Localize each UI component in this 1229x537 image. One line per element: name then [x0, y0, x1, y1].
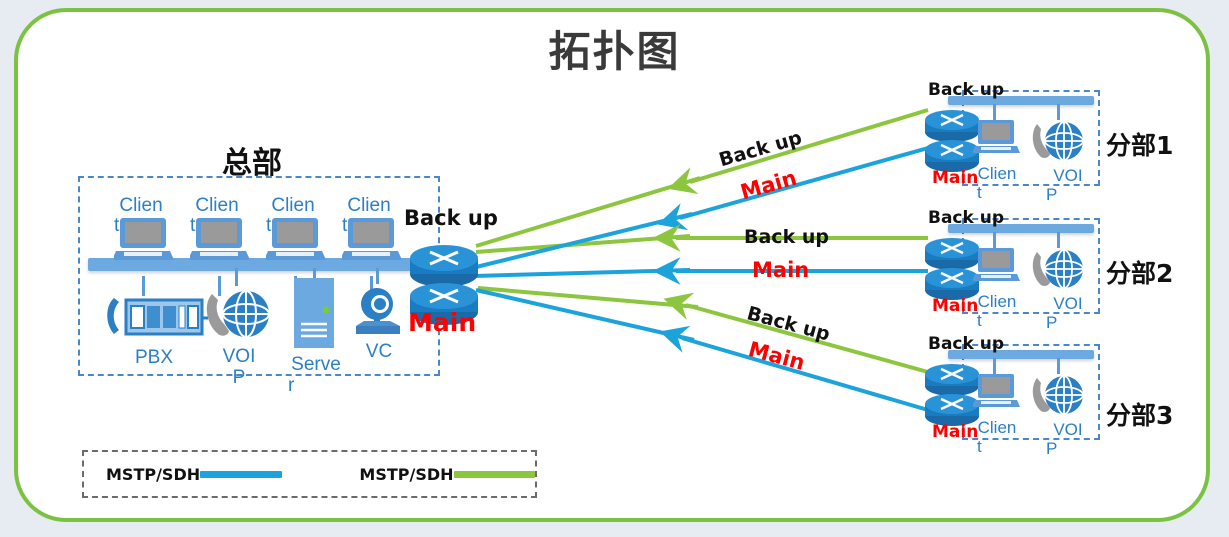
branch2-client[interactable]: Clien t — [973, 246, 1021, 330]
branch1-voip-label2: P — [1046, 185, 1057, 204]
hq-client-3-label2: t — [266, 215, 271, 236]
hq-voip[interactable]: VOI P — [204, 284, 274, 388]
branch3-voip-label: VOI — [1053, 420, 1082, 439]
branch1-voip[interactable]: VOI P — [1030, 116, 1096, 204]
legend-item-0-label: MSTP/SDH — [106, 465, 200, 484]
hq-server-label: Serve — [291, 354, 341, 375]
laptop-icon — [973, 372, 1021, 418]
laptop-icon — [973, 246, 1021, 292]
voip-globe-icon — [204, 284, 274, 346]
branch1-router-main-label: Main — [932, 168, 978, 188]
hq-client-1-label: Clien — [119, 195, 162, 216]
webcam-icon — [350, 282, 408, 342]
hq-voip-label2: P — [233, 367, 246, 388]
link-label-branch2-backup: Back up — [744, 226, 829, 248]
laptop-icon — [973, 118, 1021, 164]
server-icon — [288, 276, 340, 352]
hq-router-backup-label: Back up — [404, 206, 498, 230]
hq-pbx-label: PBX — [135, 347, 173, 368]
hq-vc[interactable]: VC — [350, 282, 408, 362]
legend-item-0-swatch — [200, 471, 281, 478]
branch1-voip-label: VOI — [1053, 166, 1082, 185]
branch2-router-backup-label: Back up — [928, 208, 1004, 228]
branch2-voip[interactable]: VOI P — [1030, 244, 1096, 332]
legend-item-1-swatch — [454, 471, 535, 478]
hq-client-1-label2: t — [114, 215, 119, 236]
topology-diagram: 拓扑图 Back up Main Back up Main Back u — [0, 0, 1229, 537]
branch2-client-label: Clien — [978, 292, 1017, 311]
branch3-client-label: Clien — [978, 418, 1017, 437]
branch1-client[interactable]: Clien t — [973, 118, 1021, 202]
hq-pbx[interactable]: PBX — [100, 290, 208, 368]
voip-globe-icon — [1030, 370, 1086, 420]
link-label-branch2-main: Main — [752, 258, 809, 282]
branch1-client-label: Clien — [978, 164, 1017, 183]
branch3-client[interactable]: Clien t — [973, 372, 1021, 456]
hq-server-label2: r — [288, 375, 294, 396]
hq-router-main-label: Main — [408, 308, 476, 337]
branch2-voip-label: VOI — [1053, 294, 1082, 313]
legend-item-1-label: MSTP/SDH — [359, 465, 453, 484]
hq-vc-label: VC — [366, 341, 392, 362]
branch2-title: 分部2 — [1106, 254, 1173, 290]
hq-client-4-label2: t — [342, 215, 347, 236]
branch2-voip-label2: P — [1046, 313, 1057, 332]
hq-voip-label: VOI — [223, 346, 256, 367]
branch1-router-backup-label: Back up — [928, 80, 1004, 100]
branch3-router-backup-label: Back up — [928, 334, 1004, 354]
hq-client-3-label: Clien — [271, 195, 314, 216]
pbx-icon — [100, 290, 208, 346]
branch3-voip-label2: P — [1046, 439, 1057, 458]
branch1-title: 分部1 — [1106, 126, 1173, 162]
voip-globe-icon — [1030, 116, 1086, 166]
hq-client-2-label: Clien — [195, 195, 238, 216]
branch3-voip[interactable]: VOI P — [1030, 370, 1096, 458]
branch3-router-main-label: Main — [932, 422, 978, 442]
legend: MSTP/SDH MSTP/SDH — [82, 450, 537, 498]
branch2-router-main-label: Main — [932, 296, 978, 316]
hq-server[interactable]: Serve r — [288, 276, 344, 396]
hq-client-2-label2: t — [190, 215, 195, 236]
voip-globe-icon — [1030, 244, 1086, 294]
branch3-title: 分部3 — [1106, 396, 1173, 432]
hq-client-4-label: Clien — [347, 195, 390, 216]
